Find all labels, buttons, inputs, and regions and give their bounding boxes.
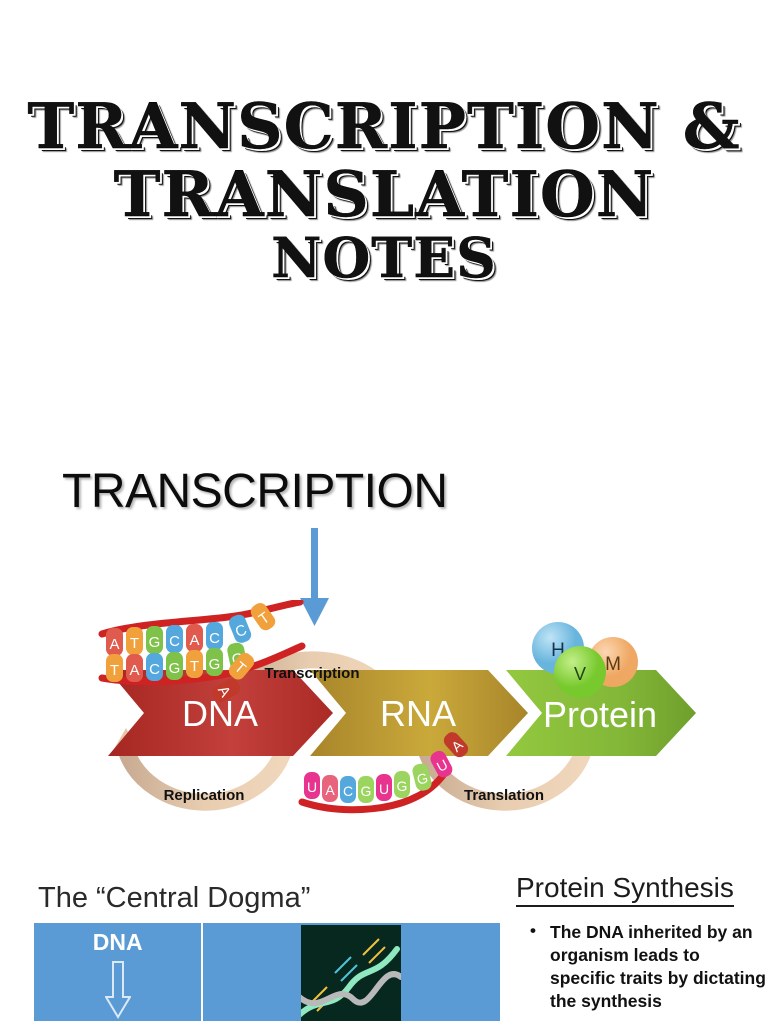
translation-label: Translation	[464, 787, 544, 804]
svg-text:G: G	[169, 660, 181, 677]
amino-acid-label-m: M	[605, 654, 621, 675]
central-dogma-diagram: DNA RNA Protein A T G C A C C T T A C G …	[88, 600, 718, 840]
amino-acid-label-v: V	[574, 664, 586, 684]
svg-text:C: C	[149, 661, 160, 678]
svg-text:U: U	[379, 781, 389, 797]
svg-text:C: C	[169, 633, 180, 650]
protein-synthesis-section: Protein Synthesis The DNA inherited by a…	[512, 872, 768, 1013]
protein-synthesis-bullet-list: The DNA inherited by an organism leads t…	[512, 921, 768, 1013]
central-dogma-section: The “Central Dogma” DNA	[34, 882, 504, 1021]
central-dogma-table: DNA	[34, 923, 500, 1021]
svg-text:C: C	[209, 630, 220, 647]
replication-label: Replication	[164, 787, 245, 804]
svg-text:U: U	[307, 779, 317, 795]
svg-text:A: A	[189, 632, 199, 649]
svg-text:T: T	[110, 662, 119, 679]
svg-text:A: A	[325, 782, 335, 798]
svg-text:G: G	[209, 656, 221, 673]
svg-text:A: A	[109, 636, 119, 653]
dogma-dna-label: DNA	[34, 929, 201, 956]
title-line-3: NOTES	[0, 231, 768, 285]
title-line-1: TRANSCRIPTION &	[0, 96, 768, 158]
dna-bases-top: A T G C A C C T	[106, 600, 278, 656]
slide-title: TRANSCRIPTION & TRANSLATION NOTES	[0, 96, 768, 285]
list-item: The DNA inherited by an organism leads t…	[530, 921, 768, 1013]
dogma-cell-dna: DNA	[34, 923, 203, 1021]
dogma-cell-helix	[203, 923, 500, 1021]
svg-text:C: C	[343, 783, 353, 799]
dogma-down-arrow-icon	[105, 961, 131, 1019]
svg-text:G: G	[149, 634, 161, 651]
svg-text:T: T	[130, 635, 139, 652]
svg-text:G: G	[361, 783, 372, 799]
protein-stage-label: Protein	[543, 694, 657, 735]
svg-text:A: A	[129, 662, 139, 679]
rna-stage-arrow: RNA	[310, 670, 528, 756]
rna-stage-label: RNA	[380, 693, 456, 734]
svg-text:G: G	[397, 778, 408, 794]
protein-synthesis-title: Protein Synthesis	[516, 872, 734, 907]
title-line-2: TRANSLATION	[0, 164, 768, 226]
transcription-label: Transcription	[264, 665, 359, 682]
dna-helix-image	[301, 925, 401, 1021]
svg-text:T: T	[190, 658, 199, 675]
section-heading-transcription: TRANSCRIPTION	[62, 464, 448, 519]
central-dogma-title: The “Central Dogma”	[34, 882, 504, 915]
